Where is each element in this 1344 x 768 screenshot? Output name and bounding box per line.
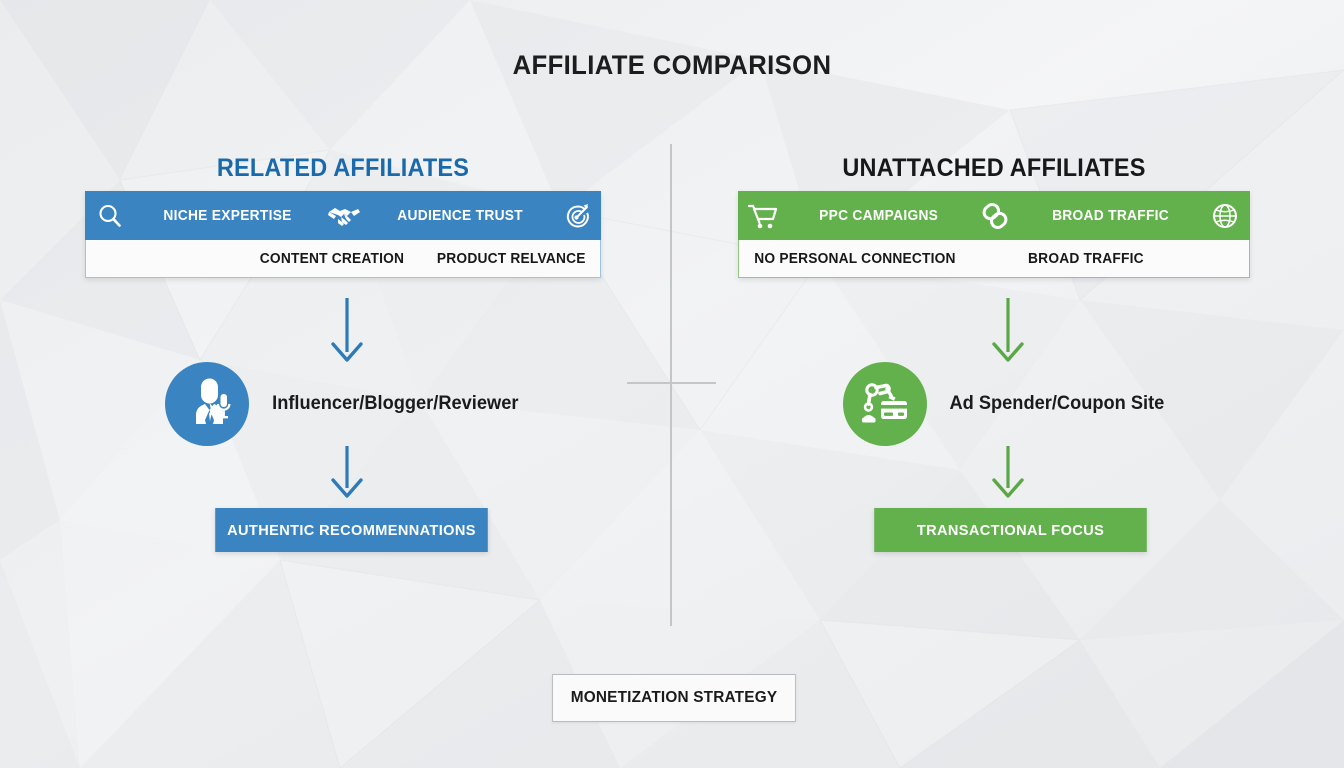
monetization-strategy-box: MONETIZATION STRATEGY xyxy=(552,674,796,722)
globe-icon xyxy=(1208,199,1242,233)
handshake-icon xyxy=(327,199,361,233)
target-arrow-icon xyxy=(559,199,593,233)
page-title: AFFILIATE COMPARISON xyxy=(34,50,1311,81)
right-role-row: Ad Spender/Coupon Site xyxy=(843,362,1169,446)
center-divider-horizontal xyxy=(627,382,716,384)
center-divider-vertical xyxy=(670,144,672,626)
left-sub-label-1: CONTENT CREATION xyxy=(259,251,403,267)
right-feature-bar-group: PPC CAMPAIGNS BROAD TRAFFIC xyxy=(738,191,1250,278)
right-sub-bar: NO PERSONAL CONNECTION BROAD TRAFFIC xyxy=(738,240,1250,278)
presenter-microphone-icon xyxy=(165,362,249,446)
left-feature-bar: NICHE EXPERTISE AUDIENCE TRUST xyxy=(85,191,601,240)
left-outcome-box: AUTHENTIC RECOMMENNATIONS xyxy=(215,508,488,552)
right-feature-label-1: PPC CAMPAIGNS xyxy=(820,208,939,224)
search-icon xyxy=(93,199,127,233)
infographic-canvas: AFFILIATE COMPARISON RELATED AFFILIATES … xyxy=(0,0,1344,768)
shopping-cart-icon xyxy=(746,199,780,233)
right-role-caption: Ad Spender/Coupon Site xyxy=(949,393,1164,415)
left-sub-label-2: PRODUCT RELVANCE xyxy=(437,251,586,267)
right-sub-label-2: BROAD TRAFFIC xyxy=(1028,251,1144,267)
right-feature-bar: PPC CAMPAIGNS BROAD TRAFFIC xyxy=(738,191,1250,240)
right-arrow-1 xyxy=(988,296,1028,369)
left-sub-bar: CONTENT CREATION PRODUCT RELVANCE xyxy=(85,240,601,278)
left-role-caption: Influencer/Blogger/Reviewer xyxy=(272,393,518,415)
right-outcome-box: TRANSACTIONAL FOCUS xyxy=(874,508,1147,552)
right-column-heading: UNATTACHED AFFILIATES xyxy=(753,154,1234,183)
chain-link-icon xyxy=(978,199,1012,233)
left-feature-label-2: AUDIENCE TRUST xyxy=(397,208,523,224)
left-feature-label-1: NICHE EXPERTISE xyxy=(163,208,291,224)
left-arrow-2 xyxy=(327,444,367,505)
left-feature-bar-group: NICHE EXPERTISE AUDIENCE TRUST xyxy=(85,191,601,278)
right-arrow-2 xyxy=(988,444,1028,505)
left-role-row: Influencer/Blogger/Reviewer xyxy=(165,362,524,446)
right-feature-label-2: BROAD TRAFFIC xyxy=(1052,208,1169,224)
left-column-heading: RELATED AFFILIATES xyxy=(100,154,585,183)
robot-arm-credit-card-icon xyxy=(843,362,927,446)
right-sub-label-1: NO PERSONAL CONNECTION xyxy=(754,251,955,267)
left-arrow-1 xyxy=(327,296,367,369)
